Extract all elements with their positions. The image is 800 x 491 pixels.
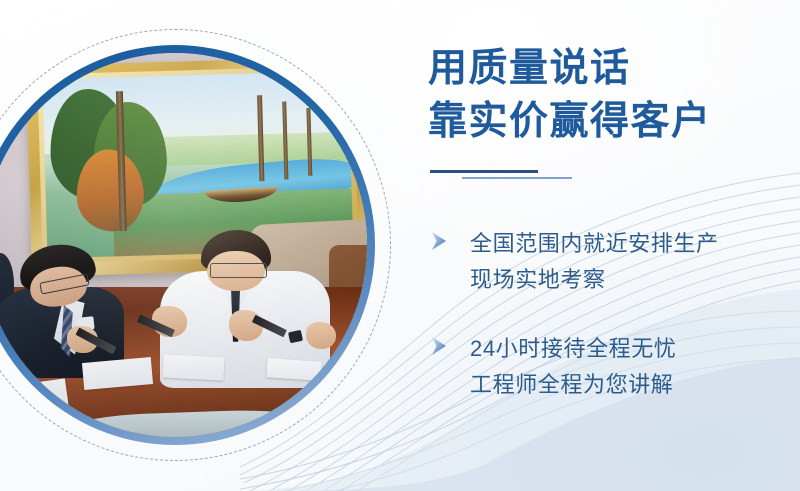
hand — [229, 310, 264, 341]
feature-text-line: 现场实地考察 — [470, 262, 788, 298]
photo-circle — [0, 45, 375, 445]
divider-rule-light — [462, 177, 572, 179]
feature-item: 24小时接待全程无忧 工程师全程为您讲解 — [428, 331, 788, 402]
feature-text-line: 工程师全程为您讲解 — [470, 367, 788, 403]
headline-line-2: 靠实价赢得客户 — [428, 95, 788, 148]
table-glass-reflection — [8, 405, 367, 437]
person-suited-man — [0, 245, 129, 376]
arrow-right-triangle-icon — [428, 230, 450, 252]
divider — [428, 170, 788, 184]
content-block: 用质量说话 靠实价赢得客户 — [428, 42, 788, 437]
office-signing-scene — [0, 53, 367, 437]
promo-banner: 用质量说话 靠实价赢得客户 — [0, 0, 800, 491]
document-paper — [267, 358, 322, 381]
eyeglasses-icon — [210, 263, 267, 277]
headline-line-1: 用质量说话 — [428, 42, 788, 95]
feature-text-line: 全国范围内就近安排生产 — [470, 226, 788, 262]
feature-text-line: 24小时接待全程无忧 — [470, 331, 788, 367]
divider-rule-dark — [430, 170, 538, 173]
feature-item: 全国范围内就近安排生产 现场实地考察 — [428, 226, 788, 297]
arrow-right-triangle-icon — [428, 335, 450, 357]
document-paper — [163, 355, 226, 381]
photo-ring-border — [0, 45, 375, 445]
feature-list: 全国范围内就近安排生产 现场实地考察 — [428, 226, 788, 403]
photo-image — [0, 53, 367, 437]
hand — [306, 322, 337, 349]
headline: 用质量说话 靠实价赢得客户 — [428, 42, 788, 148]
